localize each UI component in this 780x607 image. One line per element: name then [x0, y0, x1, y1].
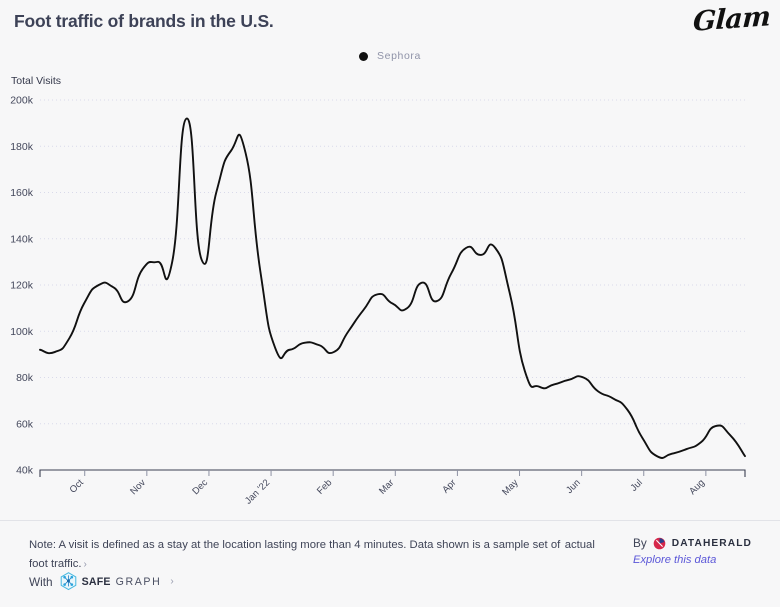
- page-title: Foot traffic of brands in the U.S.: [14, 11, 274, 32]
- chart-footer: Note: A visit is defined as a stay at th…: [0, 520, 780, 607]
- safegraph-hexagon-icon: [60, 572, 77, 591]
- y-axis-tick-label: 60k: [16, 418, 34, 430]
- y-axis-tick-label: 160k: [10, 187, 34, 199]
- note-block: Note: A visit is defined as a stay at th…: [29, 535, 609, 572]
- x-axis-tick-label: Jan '22: [243, 477, 272, 506]
- chart-header: Foot traffic of brands in the U.S. Glam: [0, 0, 780, 46]
- x-axis-tick-label: Aug: [687, 477, 707, 497]
- x-axis-labels-group: OctNovDecJan '22FebMarAprMayJunJulAug: [68, 477, 707, 506]
- plot-area: Total Visits 200k180k160k140k120k100k80k…: [0, 70, 780, 520]
- series-line-sephora: [40, 118, 745, 457]
- x-axis-tick-label: Jun: [564, 477, 583, 496]
- y-axis-labels-group: 200k180k160k140k120k100k80k60k40k: [10, 95, 34, 477]
- legend-dot-icon: [359, 52, 368, 61]
- y-axis-tick-label: 180k: [10, 141, 34, 153]
- y-axis-tick-label: 80k: [16, 372, 34, 384]
- legend-item-label: Sephora: [377, 50, 421, 62]
- line-chart-svg: 200k180k160k140k120k100k80k60k40k OctNov…: [0, 70, 780, 520]
- x-axis-line: [40, 470, 745, 477]
- note-line-1: Note: A visit is defined as a stay at th…: [29, 539, 560, 551]
- by-label: By: [633, 536, 647, 550]
- y-axis-tick-label: 200k: [10, 95, 34, 107]
- glam-brand-logo: Glam: [692, 1, 771, 38]
- y-axis-tick-label: 140k: [10, 233, 34, 245]
- by-row: By DATAHERALD: [633, 536, 752, 550]
- x-axis-group: [40, 470, 745, 477]
- safegraph-chevron-icon[interactable]: ›: [168, 576, 173, 587]
- y-axis-tick-label: 120k: [10, 280, 34, 292]
- x-axis-tick-label: Jul: [629, 477, 645, 493]
- explore-this-data-link[interactable]: Explore this data: [633, 554, 752, 566]
- safegraph-attribution[interactable]: With SAFEGRAPH ›: [29, 572, 174, 591]
- chart-card: Foot traffic of brands in the U.S. Glam …: [0, 0, 780, 606]
- x-axis-tick-label: Feb: [315, 477, 334, 496]
- with-label: With: [29, 575, 53, 589]
- chart-legend: Sephora: [0, 46, 780, 66]
- note-chevron-icon[interactable]: ›: [82, 559, 87, 570]
- safegraph-light-word: GRAPH: [116, 576, 162, 588]
- x-axis-tick-label: Nov: [128, 477, 148, 497]
- x-axis-tick-label: May: [500, 477, 521, 498]
- gridlines-group: [40, 100, 745, 470]
- safegraph-logo[interactable]: SAFEGRAPH: [60, 572, 162, 591]
- y-axis-tick-label: 40k: [16, 465, 34, 477]
- safegraph-bold-word: SAFE: [82, 576, 111, 588]
- dataherald-attribution: By DATAHERALD Explore this data: [633, 536, 752, 566]
- x-axis-tick-label: Oct: [68, 477, 86, 495]
- x-axis-tick-label: Apr: [440, 477, 458, 495]
- y-axis-tick-label: 100k: [10, 326, 34, 338]
- dataherald-wordmark: DATAHERALD: [672, 538, 752, 549]
- x-axis-tick-label: Mar: [377, 477, 396, 496]
- legend-item-sephora[interactable]: Sephora: [359, 50, 421, 62]
- dataherald-mark-icon: [653, 537, 666, 550]
- x-axis-tick-label: Dec: [190, 477, 210, 497]
